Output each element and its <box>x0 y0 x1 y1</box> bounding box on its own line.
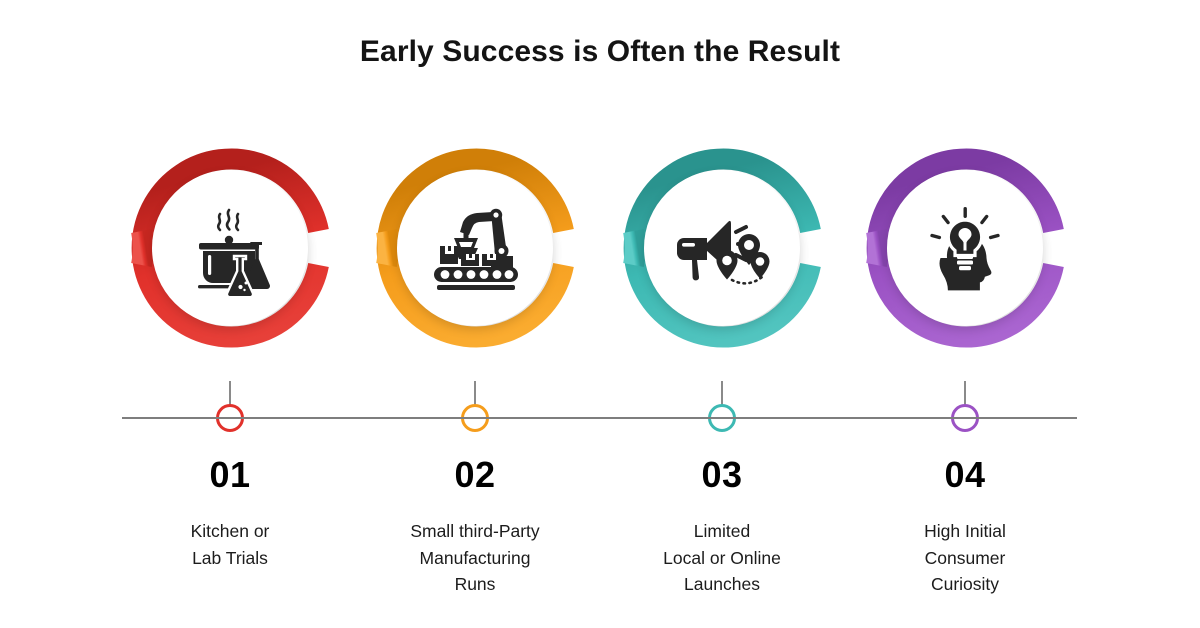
step-3-icon-disc <box>644 170 800 326</box>
step-2-icon-disc <box>397 170 553 326</box>
timeline-step-4[interactable]: 04 High Initial Consumer Curiosity <box>845 0 1085 628</box>
step-4-badge[interactable] <box>865 148 1065 348</box>
megaphone-location-pins-icon <box>670 198 774 298</box>
robotic-arm-conveyor-icon <box>423 198 527 298</box>
step-4-caption: High Initial Consumer Curiosity <box>845 518 1085 598</box>
step-4-number: 04 <box>845 456 1085 494</box>
step-2-number: 02 <box>355 456 595 494</box>
step-2-badge[interactable] <box>375 148 575 348</box>
step-3-badge[interactable] <box>622 148 822 348</box>
step-3-number: 03 <box>602 456 842 494</box>
step-3-caption: Limited Local or Online Launches <box>602 518 842 598</box>
step-1-badge[interactable] <box>130 148 330 348</box>
timeline-axis <box>122 417 1077 419</box>
step-1-caption: Kitchen or Lab Trials <box>110 518 350 571</box>
step-4-icon-disc <box>887 170 1043 326</box>
cooking-pot-and-lab-flasks-icon <box>180 198 280 298</box>
step-2-caption: Small third-Party Manufacturing Runs <box>355 518 595 598</box>
timeline-step-2[interactable]: 02 Small third-Party Manufacturing Runs <box>355 0 595 628</box>
timeline-steps: 01 Kitchen or Lab Trials <box>0 0 1200 628</box>
step-1-icon-disc <box>152 170 308 326</box>
timeline-step-3[interactable]: 03 Limited Local or Online Launches <box>602 0 842 628</box>
head-lightbulb-idea-icon <box>915 198 1015 298</box>
step-1-number: 01 <box>110 456 350 494</box>
infographic-canvas: Early Success is Often the Result <box>0 0 1200 628</box>
timeline-step-1[interactable]: 01 Kitchen or Lab Trials <box>110 0 350 628</box>
